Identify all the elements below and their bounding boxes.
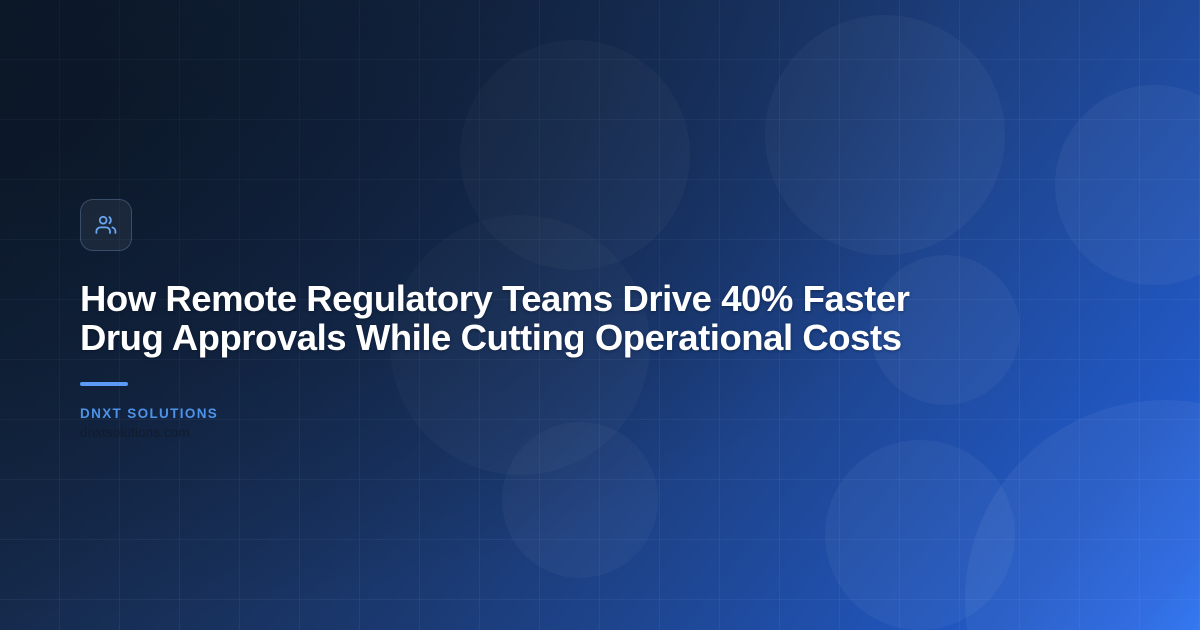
accent-bar <box>80 382 128 386</box>
users-icon <box>94 213 118 237</box>
brand-name: DNXT SOLUTIONS <box>80 406 960 421</box>
users-icon-badge <box>80 199 132 251</box>
card-content: How Remote Regulatory Teams Drive 40% Fa… <box>80 199 960 440</box>
social-share-card: How Remote Regulatory Teams Drive 40% Fa… <box>0 0 1200 630</box>
site-url: dnxtsolutions.com <box>80 425 960 440</box>
page-title: How Remote Regulatory Teams Drive 40% Fa… <box>80 280 920 357</box>
